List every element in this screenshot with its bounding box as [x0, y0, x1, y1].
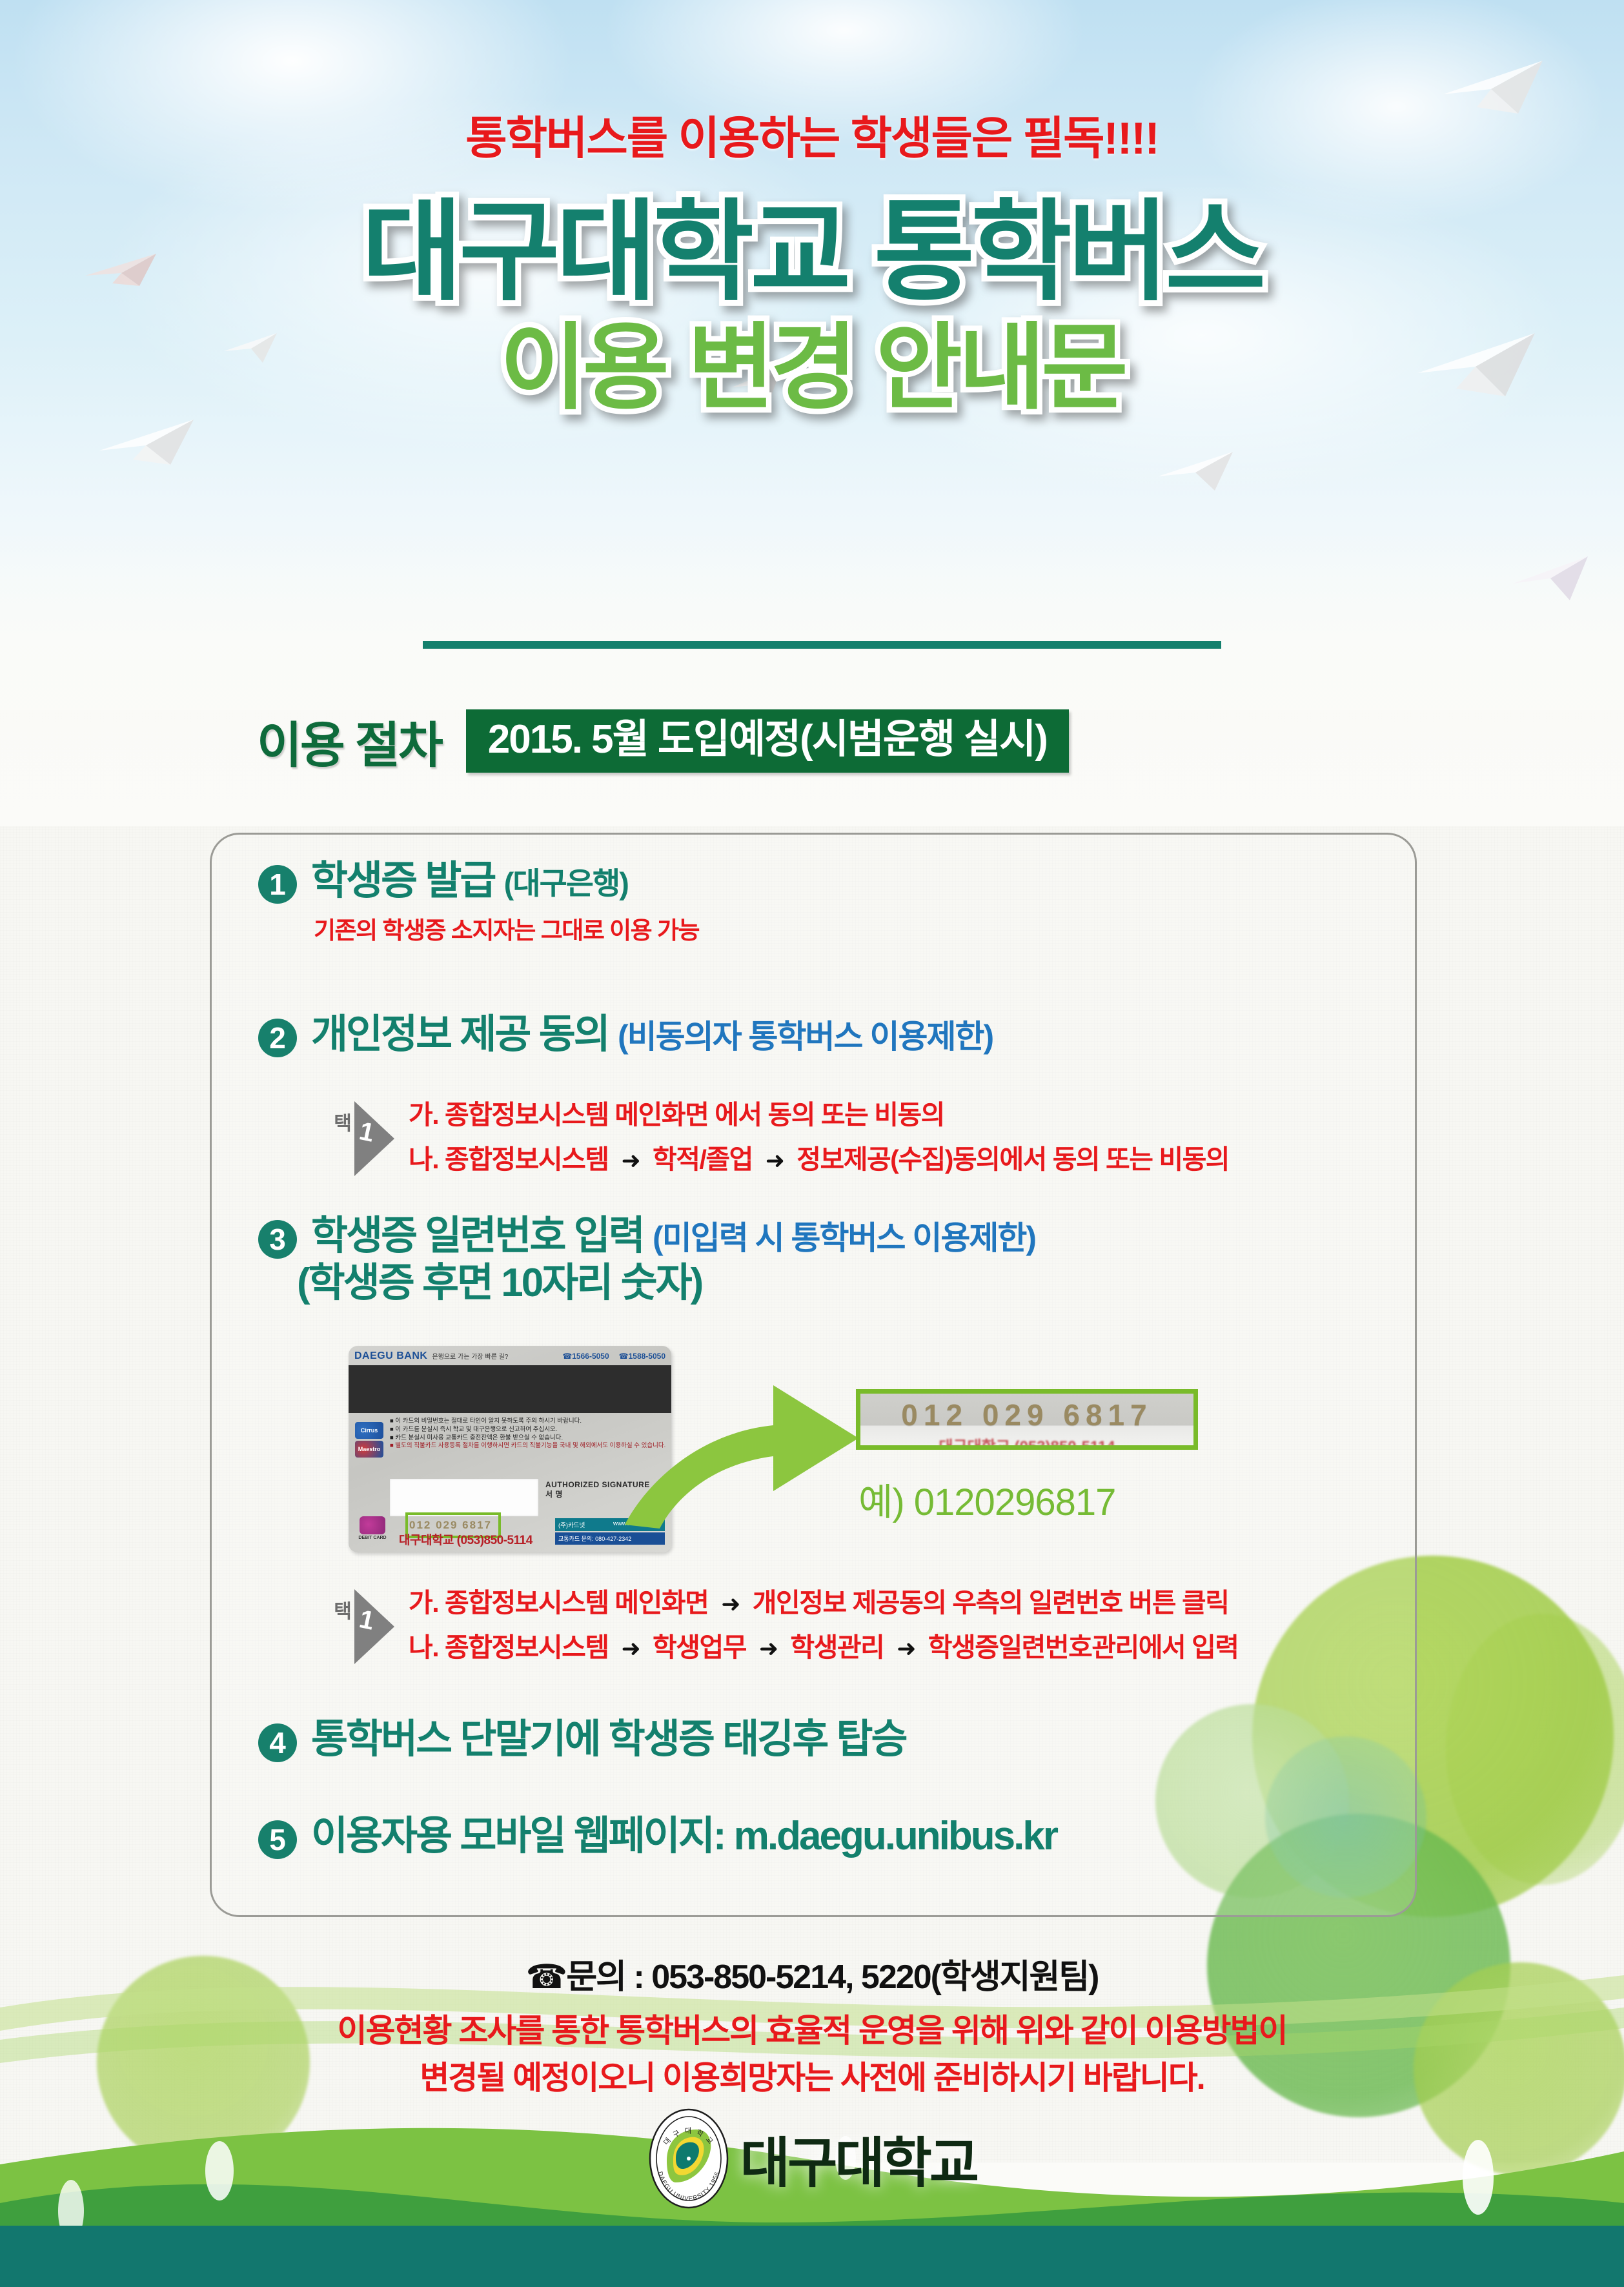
- university-logo-row: 대 구 대 학 교 DAEGU UNIVERSITY 1956 대구대학교: [0, 2108, 1624, 2210]
- step-2-option-b: 나. 종합정보시스템 ➜ 학적/졸업 ➜ 정보제공(수집)동의에서 동의 또는 …: [409, 1146, 1229, 1174]
- option-b-part1: 나. 종합정보시스템: [409, 1144, 609, 1174]
- serial-example-text: 예) 0120296817: [858, 1472, 1115, 1526]
- pick-one-marker: 택 1: [326, 1589, 396, 1664]
- title-line-1: 대구대학교 통학버스: [0, 194, 1624, 312]
- callout-blurred-line: 대구대학교 (053)850-5114: [860, 1434, 1193, 1450]
- poster-title: 대구대학교 통학버스 이용 변경 안내문: [0, 194, 1624, 420]
- step-number-badge: 1: [258, 865, 297, 904]
- step-2-title: 개인정보 제공 동의 (비동의자 통학버스 이용제한): [311, 1012, 993, 1057]
- footer-message: 이용현황 조사를 통한 통학버스의 효율적 운영을 위해 위와 같이 이용방법이…: [0, 2007, 1624, 2101]
- red-headline: 통학버스를 이용하는 학생들은 필독!!!!: [0, 102, 1624, 167]
- card-bank-name: DAEGU BANK: [354, 1350, 427, 1362]
- step-3-option-rows: 가. 종합정보시스템 메인화면 ➜ 개인정보 제공동의 우측의 일련번호 버튼 …: [409, 1589, 1239, 1678]
- step-1-subtext: 기존의 학생증 소지자는 그대로 이용 가능: [314, 911, 699, 946]
- step-3-options: 택 1 가. 종합정보시스템 메인화면 ➜ 개인정보 제공동의 우측의 일련번호…: [326, 1589, 1239, 1678]
- pick-one-marker: 택 1: [326, 1101, 396, 1176]
- kardnet-name: (주)카드넷: [558, 1520, 585, 1529]
- step-1-title-text: 학생증 발급: [311, 859, 494, 903]
- step-5-title: 이용자용 모바일 웹페이지: m.daegu.unibus.kr: [311, 1814, 1057, 1858]
- university-wordmark: 대구대학교: [740, 2120, 977, 2198]
- step-5: 5 이용자용 모바일 웹페이지: m.daegu.unibus.kr: [258, 1814, 1057, 1859]
- step-3-option-a: 가. 종합정보시스템 메인화면 ➜ 개인정보 제공동의 우측의 일련번호 버튼 …: [409, 1589, 1239, 1617]
- step-2: 2 개인정보 제공 동의 (비동의자 통학버스 이용제한): [258, 1012, 993, 1057]
- pick-one-label: 택: [326, 1601, 354, 1618]
- step-number-badge: 4: [258, 1723, 297, 1762]
- footer-bar: [0, 2226, 1624, 2287]
- arrow-right-icon: ➜: [614, 1147, 646, 1174]
- green-curved-arrow-icon: [600, 1356, 871, 1536]
- serial-magnified-callout: 012 029 6817 대구대학교 (053)850-5114: [856, 1389, 1198, 1450]
- option-a-text: 가. 종합정보시스템 메인화면 에서 동의 또는 비동의: [409, 1100, 944, 1130]
- step-3-title: 학생증 일련번호 입력 (미입력 시 통학버스 이용제한): [311, 1214, 1035, 1258]
- step-3-option-b: 나. 종합정보시스템 ➜ 학생업무 ➜ 학생관리 ➜ 학생증일련번호관리에서 입…: [409, 1634, 1239, 1662]
- section-badge: 2015. 5월 도입예정(시범운행 실시): [466, 709, 1069, 773]
- debit-card-logo: DEBIT CARD: [358, 1516, 387, 1540]
- step-2-title-text: 개인정보 제공 동의: [311, 1012, 609, 1057]
- step-2-option-a: 가. 종합정보시스템 메인화면 에서 동의 또는 비동의: [409, 1101, 1229, 1129]
- section-header: 이용 절차 2015. 5월 도입예정(시범운행 실시): [257, 706, 1069, 777]
- card-serial-number: 012 029 6817: [409, 1519, 492, 1532]
- step-4-title: 통학버스 단말기에 학생증 태깅후 탑승: [311, 1717, 906, 1762]
- step-3-subtitle: (학생증 후면 10자리 숫자): [297, 1261, 1035, 1305]
- title-divider: [423, 641, 1221, 649]
- step-2-option-rows: 가. 종합정보시스템 메인화면 에서 동의 또는 비동의 나. 종합정보시스템 …: [409, 1101, 1229, 1190]
- step-1: 1 학생증 발급 (대구은행) 기존의 학생증 소지자는 그대로 이용 가능: [258, 859, 699, 946]
- sky-fade-gradient: [0, 529, 1624, 826]
- arrow-right-icon: ➜: [753, 1635, 784, 1662]
- step-2-options: 택 1 가. 종합정보시스템 메인화면 에서 동의 또는 비동의 나. 종합정보…: [326, 1101, 1229, 1190]
- step-number-badge: 3: [258, 1220, 297, 1259]
- card-university-line: 대구대학교 (053)850-5114: [399, 1530, 533, 1548]
- step-1-paren: (대구은행): [504, 866, 628, 900]
- step-3: 3 학생증 일련번호 입력 (미입력 시 통학버스 이용제한) (학생증 후면 …: [258, 1214, 1035, 1306]
- paper-airplane-icon: [1155, 445, 1239, 497]
- debit-card-label: DEBIT CARD: [358, 1536, 387, 1540]
- footer-message-line-1: 이용현황 조사를 통한 통학버스의 효율적 운영을 위해 위와 같이 이용방법이: [0, 2007, 1624, 2055]
- option-b-part4: 학생증일련번호관리에서 입력: [928, 1632, 1239, 1662]
- section-label: 이용 절차: [257, 706, 442, 777]
- arrow-right-icon: ➜: [759, 1147, 791, 1174]
- paper-airplane-icon: [1510, 549, 1594, 607]
- cirrus-logo-icon: Cirrus: [355, 1422, 383, 1439]
- paper-airplane-icon: [97, 413, 200, 471]
- maestro-logo-icon: Maestro: [355, 1441, 383, 1458]
- callout-serial: 012 029 6817: [860, 1394, 1193, 1432]
- card-slogan: 은행으로 가는 가장 빠른 길?: [432, 1351, 508, 1361]
- card-signature-panel: [390, 1479, 538, 1516]
- pick-one-label: 택: [326, 1113, 354, 1130]
- debit-mark-icon: [360, 1516, 385, 1534]
- step-1-title: 학생증 발급 (대구은행): [311, 859, 699, 903]
- option-b-part2: 학생업무: [653, 1632, 746, 1662]
- option-b-part3: 정보제공(수집)동의에서 동의 또는 비동의: [797, 1144, 1229, 1174]
- step-2-paren: (비동의자 통학버스 이용제한): [618, 1019, 993, 1055]
- step-3-paren: (미입력 시 통학버스 이용제한): [653, 1220, 1035, 1256]
- arrow-right-icon: ➜: [715, 1591, 746, 1617]
- step-4: 4 통학버스 단말기에 학생증 태깅후 탑승: [258, 1717, 906, 1762]
- option-b-part1: 나. 종합정보시스템: [409, 1632, 609, 1662]
- title-line-2: 이용 변경 안내문: [0, 316, 1624, 420]
- option-b-part2: 학적/졸업: [653, 1144, 753, 1174]
- contact-line: ☎문의 : 053-850-5214, 5220(학생지원팀): [0, 1949, 1624, 1998]
- arrow-right-icon: ➜: [614, 1635, 646, 1662]
- step-number-badge: 2: [258, 1019, 297, 1057]
- card-network-logos: Cirrus Maestro: [355, 1422, 386, 1459]
- option-a-part2: 개인정보 제공동의 우측의 일련번호 버튼 클릭: [753, 1588, 1229, 1618]
- step-3-title-text: 학생증 일련번호 입력: [311, 1214, 644, 1258]
- option-a-part1: 가. 종합정보시스템 메인화면: [409, 1588, 708, 1618]
- arrow-right-icon: ➜: [890, 1635, 922, 1662]
- option-b-part3: 학생관리: [790, 1632, 884, 1662]
- step-number-badge: 5: [258, 1820, 297, 1859]
- university-seal-icon: 대 구 대 학 교 DAEGU UNIVERSITY 1956: [647, 2108, 730, 2210]
